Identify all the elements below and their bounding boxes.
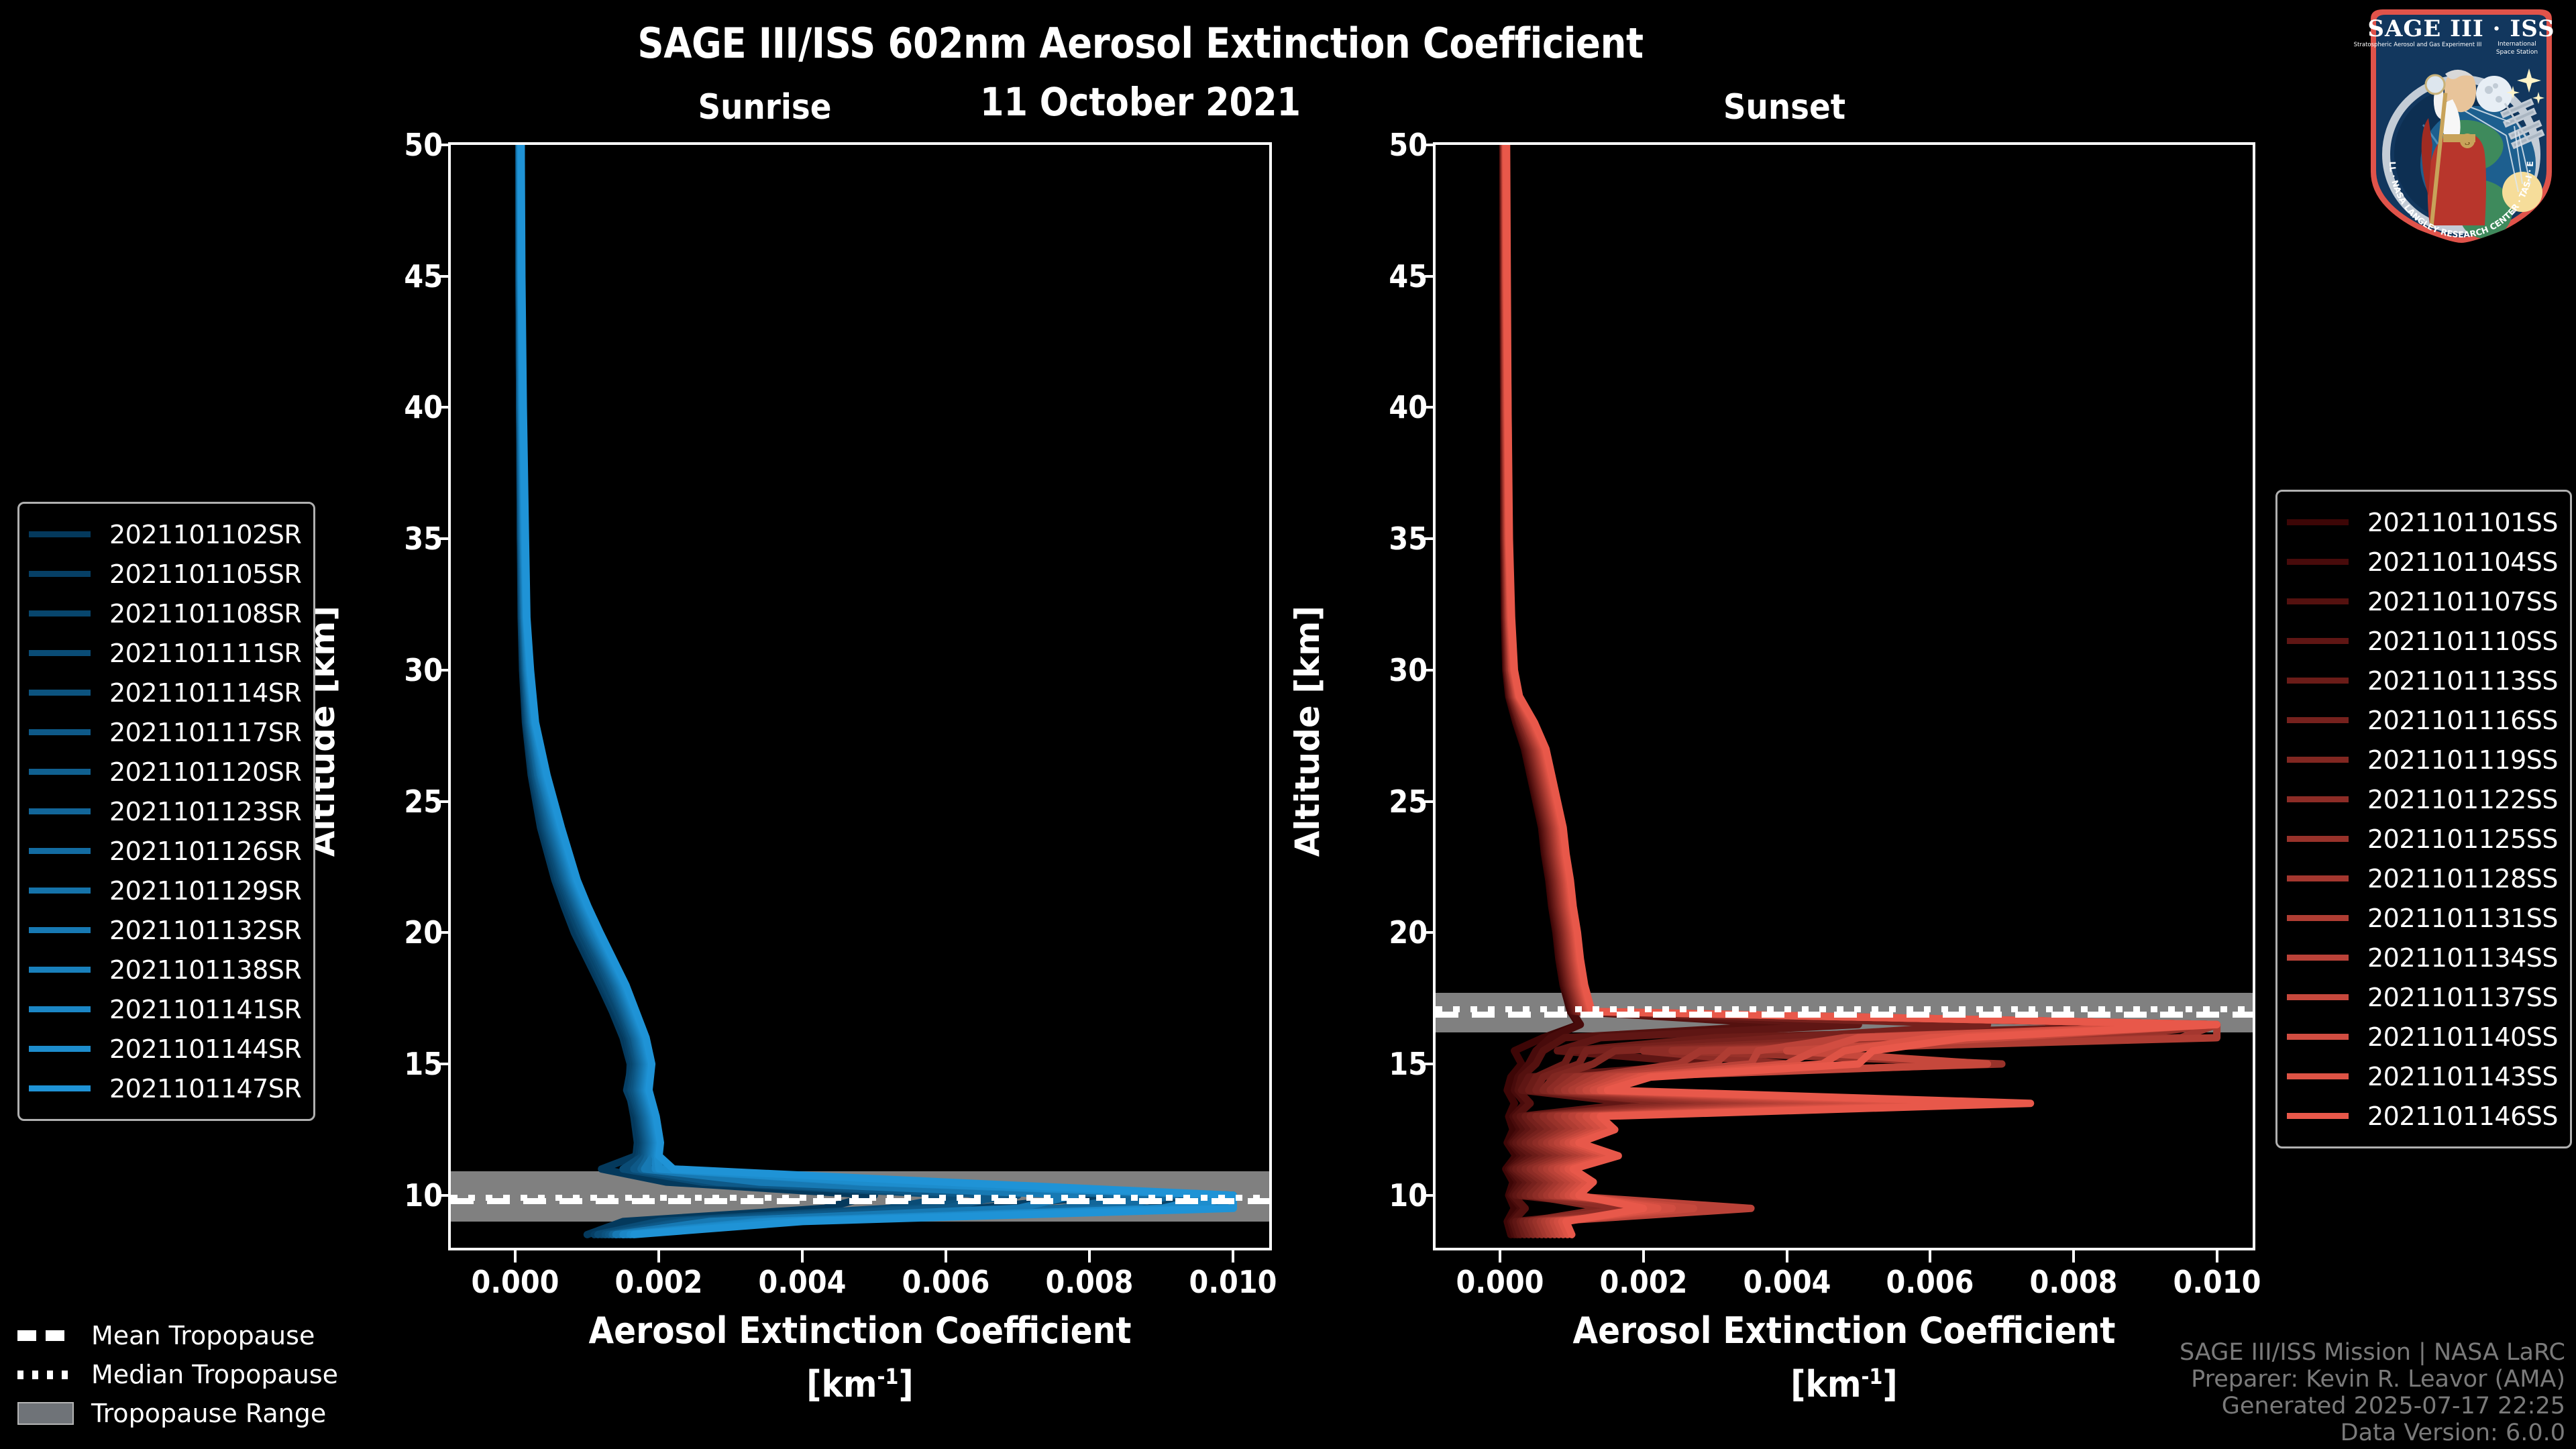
legend-item-label: 2021101105SR: [109, 559, 301, 589]
legend-item-label: 2021101116SS: [2367, 706, 2558, 735]
x-axis-tick-label: 0.008: [1017, 1264, 1162, 1300]
y-axis-tick-label: 10: [1343, 1177, 1428, 1214]
legend-item-label: 2021101147SR: [109, 1074, 301, 1104]
footer-mission: SAGE III/ISS Mission | NASA LaRC: [2180, 1339, 2565, 1366]
legend-item-label: 2021101141SR: [109, 995, 301, 1024]
legend-item-mean-tropopause: Mean Tropopause: [17, 1316, 338, 1355]
legend-item-tropopause-range: Tropopause Range: [17, 1394, 338, 1433]
legend-color-swatch: [2287, 836, 2349, 842]
footer-data-version: Data Version: 6.0.0: [2180, 1419, 2565, 1446]
legend-item-median-tropopause: Median Tropopause: [17, 1355, 338, 1394]
legend-color-swatch: [29, 888, 91, 894]
y-axis-tick-label: 10: [358, 1177, 443, 1214]
x-axis-tick-label: 0.000: [1428, 1264, 1572, 1300]
legend-item-label: 2021101102SR: [109, 520, 301, 549]
legend-color-swatch: [2287, 519, 2349, 525]
x-axis-tick-label: 0.006: [1858, 1264, 2002, 1300]
legend-item[interactable]: 2021101137SS: [2287, 977, 2558, 1017]
sunset-series-legend[interactable]: 2021101101SS2021101104SS2021101107SS2021…: [2275, 490, 2572, 1148]
x-axis-tick-mark: [1929, 1250, 1931, 1263]
legend-item[interactable]: 2021101110SS: [2287, 621, 2558, 661]
x-axis-tick-label: 0.002: [1571, 1264, 1716, 1300]
logo-subtitle-right-1: International: [2498, 41, 2536, 48]
x-axis-tick-mark: [657, 1250, 660, 1263]
legend-item[interactable]: 2021101108SR: [29, 594, 301, 633]
legend-item[interactable]: 2021101111SR: [29, 633, 301, 673]
legend-item[interactable]: 2021101146SS: [2287, 1096, 2558, 1136]
x-axis-tick-mark: [801, 1250, 804, 1263]
legend-color-swatch: [2287, 955, 2349, 961]
legend-item-label: 2021101123SR: [109, 797, 301, 826]
x-axis-tick-mark: [945, 1250, 947, 1263]
sunrise-y-axis: 101520253035404550: [335, 0, 443, 1449]
x-axis-tick-mark: [514, 1250, 517, 1263]
sunset-x-ticks: 0.0000.0020.0040.0060.0080.010: [1433, 0, 2255, 1449]
legend-item[interactable]: 2021101141SR: [29, 989, 301, 1029]
x-axis-tick-label: 0.004: [730, 1264, 875, 1300]
y-axis-tick-label: 25: [1343, 784, 1428, 820]
legend-color-swatch: [29, 927, 91, 933]
y-axis-tick-label: 30: [1343, 652, 1428, 688]
x-axis-tick-label: 0.000: [443, 1264, 588, 1300]
y-axis-tick-label: 50: [358, 127, 443, 163]
legend-item[interactable]: 2021101122SS: [2287, 780, 2558, 819]
legend-item-label: 2021101111SR: [109, 639, 301, 668]
legend-label-tropopause-range: Tropopause Range: [91, 1399, 326, 1428]
footer-preparer: Preparer: Kevin R. Leavor (AMA): [2180, 1366, 2565, 1393]
legend-item-label: 2021101137SS: [2367, 983, 2558, 1012]
y-axis-tick-label: 15: [1343, 1046, 1428, 1082]
legend-color-swatch: [29, 769, 91, 775]
legend-color-swatch: [2287, 1113, 2349, 1119]
sunrise-x-ticks: 0.0000.0020.0040.0060.0080.010: [448, 0, 1272, 1449]
x-axis-tick-label: 0.010: [2145, 1264, 2290, 1300]
legend-item-label: 2021101117SR: [109, 718, 301, 747]
legend-item[interactable]: 2021101131SS: [2287, 898, 2558, 938]
legend-item[interactable]: 2021101132SR: [29, 910, 301, 950]
dashed-line-icon: [17, 1330, 74, 1341]
legend-item-label: 2021101132SR: [109, 916, 301, 945]
tropopause-legend: Mean Tropopause Median Tropopause Tropop…: [17, 1316, 338, 1433]
legend-item[interactable]: 2021101120SR: [29, 752, 301, 792]
y-axis-tick-label: 15: [358, 1046, 443, 1082]
sage-iii-iss-mission-patch-logo: S SAGE III · ISS Stratospheric Aerosol a…: [2351, 4, 2572, 246]
legend-color-swatch: [29, 1085, 91, 1091]
legend-item[interactable]: 2021101117SR: [29, 712, 301, 752]
legend-color-swatch: [2287, 638, 2349, 644]
legend-item-label: 2021101122SS: [2367, 785, 2558, 814]
logo-title: SAGE III · ISS: [2367, 15, 2555, 42]
legend-item[interactable]: 2021101107SS: [2287, 582, 2558, 621]
legend-item-label: 2021101128SS: [2367, 864, 2558, 894]
legend-item[interactable]: 2021101123SR: [29, 792, 301, 831]
legend-item[interactable]: 2021101143SS: [2287, 1057, 2558, 1096]
sunset-x-axis-label: Aerosol Extinction Coefficient: [1474, 1309, 2214, 1352]
x-axis-tick-mark: [1786, 1250, 1788, 1263]
filled-rectangle-icon: [17, 1402, 74, 1425]
legend-item[interactable]: 2021101105SR: [29, 554, 301, 594]
legend-item-label: 2021101114SR: [109, 678, 301, 708]
legend-item-label: 2021101119SS: [2367, 745, 2558, 775]
legend-color-swatch: [2287, 598, 2349, 604]
legend-color-swatch: [29, 967, 91, 973]
legend-item[interactable]: 2021101113SS: [2287, 661, 2558, 700]
legend-item-label: 2021101110SS: [2367, 627, 2558, 656]
legend-item[interactable]: 2021101125SS: [2287, 819, 2558, 859]
sunrise-x-axis-label: Aerosol Extinction Coefficient: [489, 1309, 1230, 1352]
legend-color-swatch: [2287, 559, 2349, 565]
legend-item[interactable]: 2021101144SR: [29, 1029, 301, 1069]
legend-item[interactable]: 2021101147SR: [29, 1069, 301, 1108]
legend-item-label: 2021101144SR: [109, 1034, 301, 1064]
legend-item[interactable]: 2021101114SR: [29, 673, 301, 712]
sunset-y-axis-label: Altitude [km]: [1288, 606, 1327, 857]
legend-color-swatch: [2287, 717, 2349, 723]
sunrise-x-axis-unit: [km-1]: [489, 1363, 1230, 1405]
x-axis-tick-mark: [1499, 1250, 1501, 1263]
legend-item[interactable]: 2021101126SR: [29, 831, 301, 871]
legend-color-swatch: [29, 729, 91, 735]
legend-item-label: 2021101129SR: [109, 876, 301, 906]
logo-subtitle-right-2: Space Station: [2496, 49, 2538, 56]
legend-color-swatch: [2287, 915, 2349, 921]
legend-color-swatch: [2287, 994, 2349, 1000]
footer-generated: Generated 2025-07-17 22:25: [2180, 1393, 2565, 1419]
legend-item[interactable]: 2021101119SS: [2287, 740, 2558, 780]
legend-color-swatch: [29, 650, 91, 656]
x-axis-tick-mark: [2072, 1250, 2075, 1263]
x-axis-tick-mark: [2216, 1250, 2218, 1263]
legend-item[interactable]: 2021101104SS: [2287, 542, 2558, 582]
legend-item-label: 2021101108SR: [109, 599, 301, 629]
legend-item-label: 2021101113SS: [2367, 666, 2558, 696]
legend-color-swatch: [2287, 757, 2349, 763]
legend-color-swatch: [29, 571, 91, 577]
x-axis-tick-label: 0.010: [1161, 1264, 1305, 1300]
legend-item[interactable]: 2021101134SS: [2287, 938, 2558, 977]
y-axis-tick-label: 50: [1343, 127, 1428, 163]
x-axis-tick-label: 0.004: [1715, 1264, 1860, 1300]
legend-label-mean-tropopause: Mean Tropopause: [91, 1321, 315, 1350]
legend-item-label: 2021101138SR: [109, 955, 301, 985]
legend-color-swatch: [2287, 678, 2349, 684]
y-axis-tick-label: 20: [358, 914, 443, 951]
y-axis-tick-label: 45: [358, 258, 443, 294]
y-axis-tick-label: 20: [1343, 914, 1428, 951]
sunrise-series-legend[interactable]: 2021101102SR2021101105SR2021101108SR2021…: [17, 502, 315, 1121]
legend-item-label: 2021101107SS: [2367, 587, 2558, 616]
legend-item[interactable]: 2021101128SS: [2287, 859, 2558, 898]
y-axis-tick-label: 45: [1343, 258, 1428, 294]
x-axis-tick-mark: [1088, 1250, 1091, 1263]
x-axis-tick-mark: [1642, 1250, 1645, 1263]
sunset-y-axis: 101520253035404550: [1320, 0, 1428, 1449]
legend-color-swatch: [29, 808, 91, 814]
legend-color-swatch: [29, 531, 91, 537]
legend-color-swatch: [29, 690, 91, 696]
legend-color-swatch: [29, 848, 91, 854]
legend-color-swatch: [29, 1006, 91, 1012]
legend-item-label: 2021101125SS: [2367, 824, 2558, 854]
legend-color-swatch: [29, 1046, 91, 1052]
legend-item-label: 2021101143SS: [2367, 1062, 2558, 1091]
legend-item-label: 2021101104SS: [2367, 547, 2558, 577]
x-axis-tick-label: 0.006: [873, 1264, 1018, 1300]
footer-credits: SAGE III/ISS Mission | NASA LaRC Prepare…: [2180, 1339, 2565, 1446]
y-axis-tick-label: 35: [358, 521, 443, 557]
legend-color-swatch: [2287, 796, 2349, 802]
legend-item[interactable]: 2021101129SR: [29, 871, 301, 910]
x-axis-tick-label: 0.008: [2001, 1264, 2146, 1300]
y-axis-tick-label: 25: [358, 784, 443, 820]
legend-color-swatch: [2287, 875, 2349, 881]
legend-label-median-tropopause: Median Tropopause: [91, 1360, 338, 1389]
dotted-line-icon: [17, 1371, 74, 1379]
y-axis-tick-label: 40: [358, 389, 443, 425]
x-axis-tick-label: 0.002: [586, 1264, 731, 1300]
logo-subtitle-left: Stratospheric Aerosol and Gas Experiment…: [2354, 42, 2482, 48]
legend-item[interactable]: 2021101101SS: [2287, 502, 2558, 542]
sunset-x-axis-unit: [km-1]: [1474, 1363, 2214, 1405]
legend-item-label: 2021101126SR: [109, 837, 301, 866]
legend-item[interactable]: 2021101138SR: [29, 950, 301, 989]
legend-item-label: 2021101131SS: [2367, 904, 2558, 933]
legend-item-label: 2021101146SS: [2367, 1102, 2558, 1131]
legend-item-label: 2021101140SS: [2367, 1022, 2558, 1052]
legend-item[interactable]: 2021101102SR: [29, 515, 301, 554]
x-axis-tick-mark: [1232, 1250, 1234, 1263]
legend-item[interactable]: 2021101116SS: [2287, 700, 2558, 740]
legend-color-swatch: [2287, 1034, 2349, 1040]
y-axis-tick-label: 30: [358, 652, 443, 688]
y-axis-tick-label: 40: [1343, 389, 1428, 425]
legend-color-swatch: [29, 610, 91, 616]
legend-color-swatch: [2287, 1073, 2349, 1079]
legend-item-label: 2021101101SS: [2367, 508, 2558, 537]
y-axis-tick-label: 35: [1343, 521, 1428, 557]
legend-item-label: 2021101120SR: [109, 757, 301, 787]
legend-item[interactable]: 2021101140SS: [2287, 1017, 2558, 1057]
legend-item-label: 2021101134SS: [2367, 943, 2558, 973]
